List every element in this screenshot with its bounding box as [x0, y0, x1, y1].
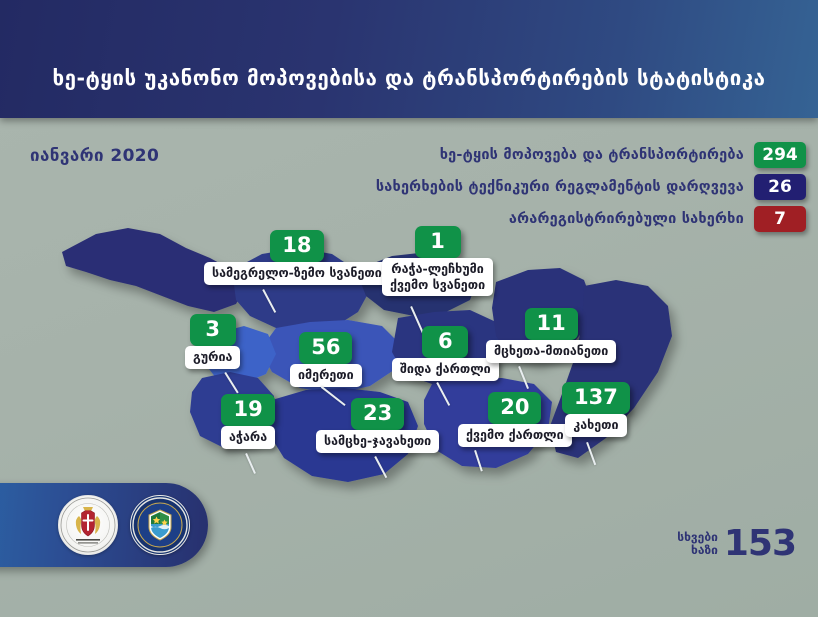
- legend-item-label: ხე-ტყის მოპოვება და ტრანსპორტირება: [440, 147, 744, 163]
- region-marker-racha[interactable]: 1 რაჭა-ლეჩხუმი ქვემო სვანეთი: [382, 226, 493, 296]
- region-name: სამეგრელო-ზემო სვანეთი: [204, 262, 390, 285]
- total-summary: სხვები ხაზი 153: [677, 526, 796, 562]
- legend-item-value: 294: [754, 142, 806, 168]
- region-marker-guria[interactable]: 3 გურია: [185, 314, 240, 369]
- region-count: 3: [190, 314, 236, 346]
- region-count: 19: [221, 394, 274, 426]
- region-name: მცხეთა-მთიანეთი: [486, 340, 616, 363]
- region-count: 6: [422, 326, 468, 358]
- environment-agency-seal: [130, 495, 190, 555]
- region-marker-mtskheta[interactable]: 11 მცხეთა-მთიანეთი: [486, 308, 616, 363]
- total-caption-line2: ხაზი: [677, 544, 718, 557]
- region-name: აჭარა: [221, 426, 275, 449]
- region-marker-shida-kartli[interactable]: 6 შიდა ქართლი: [392, 326, 499, 381]
- infographic-canvas: ხე-ტყის უკანონო მოპოვებისა და ტრანსპორტი…: [0, 0, 818, 617]
- region-count: 137: [562, 382, 630, 414]
- total-caption: სხვები ხაზი: [677, 531, 718, 556]
- region-marker-kvemo-kartli[interactable]: 20 ქვემო ქართლი: [458, 392, 572, 447]
- header-banner: ხე-ტყის უკანონო მოპოვებისა და ტრანსპორტი…: [0, 0, 818, 118]
- region-marker-adjara[interactable]: 19 აჭარა: [221, 394, 275, 449]
- region-count: 1: [415, 226, 461, 258]
- period-label: იანვარი 2020: [30, 146, 159, 166]
- region-name: იმერეთი: [290, 364, 362, 387]
- region-name: შიდა ქართლი: [392, 358, 499, 381]
- region-count: 23: [351, 398, 404, 430]
- region-name: სამცხე-ჯავახეთი: [316, 430, 439, 453]
- region-count: 20: [488, 392, 541, 424]
- region-marker-samtskhe[interactable]: 23 სამცხე-ჯავახეთი: [316, 398, 439, 453]
- region-count: 56: [299, 332, 352, 364]
- region-marker-imereti[interactable]: 56 იმერეთი: [290, 332, 362, 387]
- page-title: ხე-ტყის უკანონო მოპოვებისა და ტრანსპორტი…: [52, 66, 765, 118]
- region-marker-samegrelo[interactable]: 18 სამეგრელო-ზემო სვანეთი: [204, 230, 390, 285]
- logo-pill: [0, 483, 208, 567]
- region-name: კახეთი: [565, 414, 626, 437]
- region-name: გურია: [185, 346, 240, 369]
- region-marker-kakheti[interactable]: 137 კახეთი: [562, 382, 630, 437]
- legend-item: ხე-ტყის მოპოვება და ტრანსპორტირება 294: [226, 140, 806, 170]
- region-name: რაჭა-ლეჩხუმი ქვემო სვანეთი: [382, 258, 493, 296]
- region-name: ქვემო ქართლი: [458, 424, 572, 447]
- total-value: 153: [724, 526, 796, 562]
- region-count: 11: [525, 308, 578, 340]
- georgia-coat-of-arms-seal: [58, 495, 118, 555]
- region-count: 18: [270, 230, 323, 262]
